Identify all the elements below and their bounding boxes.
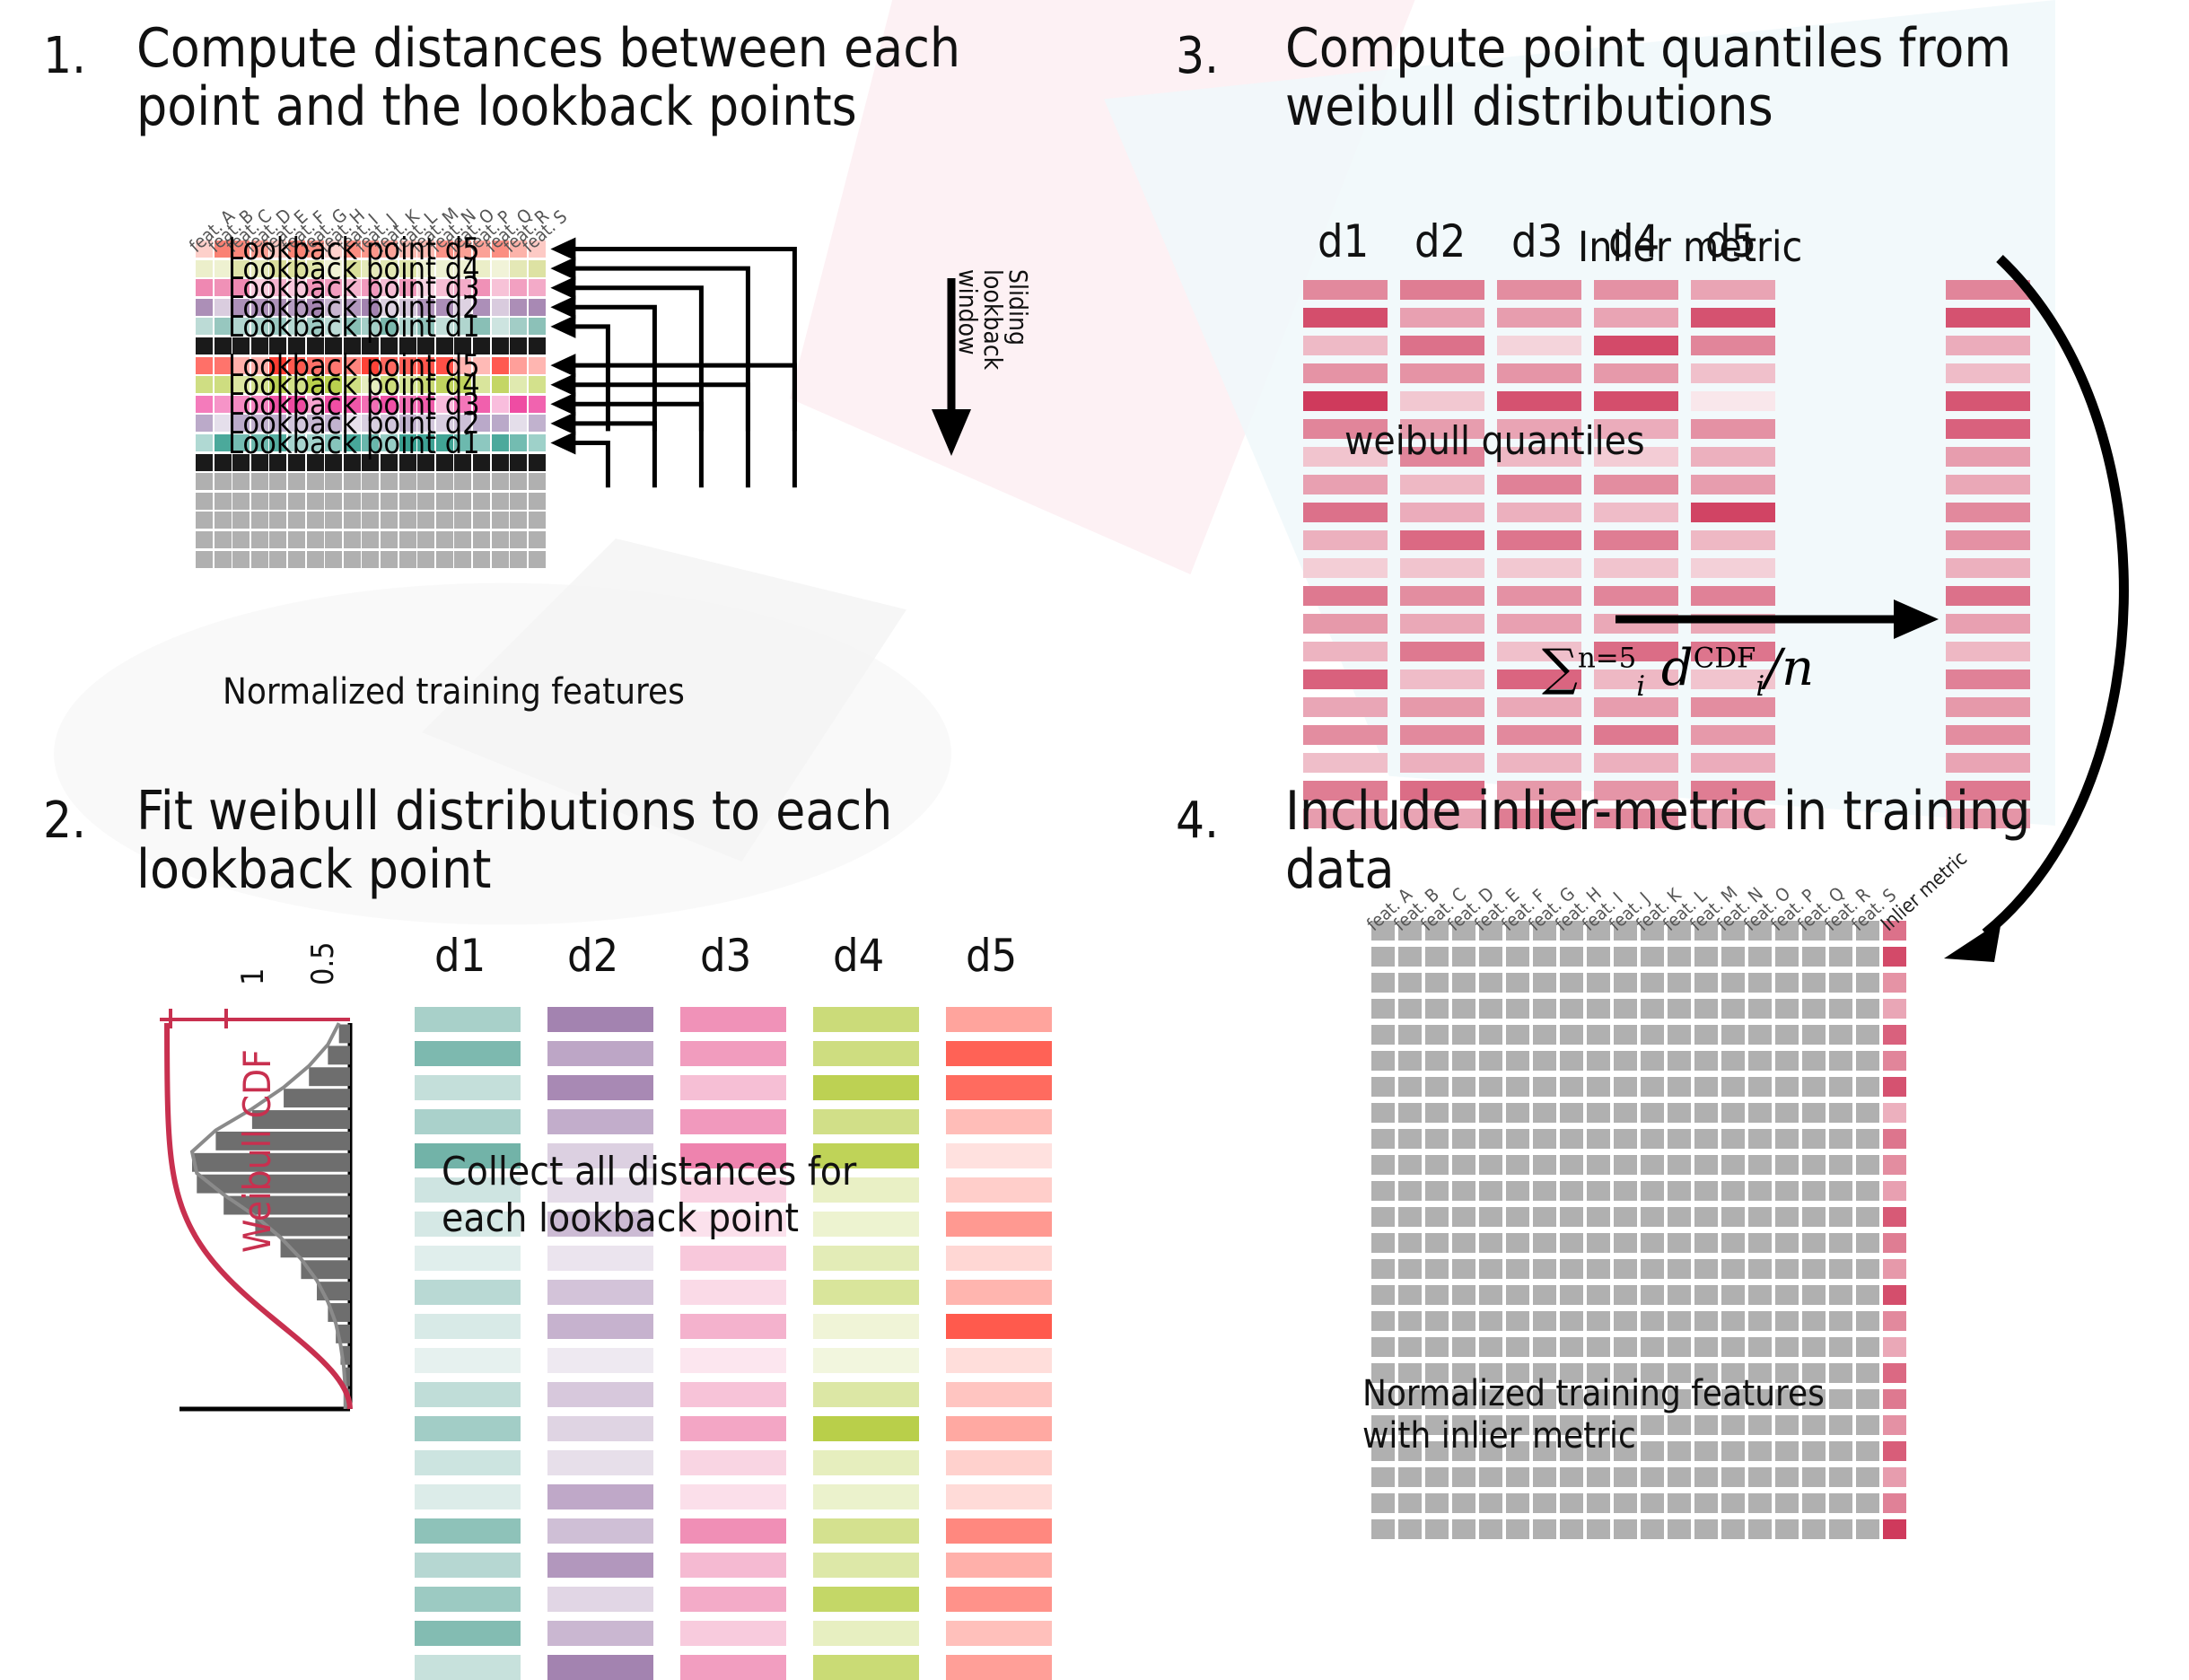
panel3-column-label: d1 [1318, 215, 1369, 267]
panel4-feature-cell [1802, 1519, 1826, 1539]
panel2-distance-cell [547, 1655, 653, 1680]
diagram-canvas: 1. Compute distances between each point … [0, 0, 2189, 1522]
panel2-distance-cell [813, 1655, 919, 1680]
panel2-distance-cell [680, 1621, 786, 1646]
panel4-feature-cell [1668, 1519, 1691, 1539]
panel2-distance-cell [415, 1553, 521, 1578]
collect-distances-label: Collect all distances for each lookback … [442, 1149, 856, 1242]
panel2-distance-cell [946, 1621, 1052, 1646]
panel2-column-label: d1 [434, 930, 486, 982]
panel2-distance-cell [680, 1587, 786, 1612]
panel4-feature-cell [1614, 1519, 1637, 1539]
panel2-distance-cell [547, 1621, 653, 1646]
formula-term-sub: i [1756, 670, 1764, 703]
panel4-feature-cell [1560, 1519, 1583, 1539]
panel2-distance-cell [813, 1621, 919, 1646]
panel2-distance-cell [813, 1587, 919, 1612]
panel4-feature-cell [1398, 1519, 1422, 1539]
panel3-column-label: d3 [1511, 215, 1563, 267]
panel2-distance-cell [415, 1621, 521, 1646]
panel2-distance-cell [415, 1518, 521, 1544]
panel4-feature-cell [1371, 1519, 1395, 1539]
panel4-feature-cell [1775, 1519, 1799, 1539]
formula-divisor: /n [1764, 639, 1814, 697]
weibull-quantiles-label: weibull quantiles [1344, 418, 1645, 465]
panel2-distance-cell [680, 1518, 786, 1544]
formula-term: d [1661, 639, 1694, 697]
panel4-feature-cell [1641, 1519, 1664, 1539]
cdf-tick-0.5: 0.5 [305, 941, 341, 985]
formula-lower: i [1636, 670, 1645, 703]
panel4-feature-cell [1721, 1519, 1745, 1539]
panel1-lookback-row-label: Lookback point d1 [228, 309, 480, 345]
panel4-feature-cell [1506, 1519, 1529, 1539]
panel4-feature-cell [1694, 1519, 1718, 1539]
panel2-distance-cell [813, 1553, 919, 1578]
panel-4-caption: Normalized training features with inlier… [1362, 1373, 1825, 1457]
formula-upper: n=5 [1578, 642, 1636, 674]
sliding-window-label: Sliding lookback window [955, 269, 1030, 370]
panel2-distance-cell [547, 1518, 653, 1544]
panel2-distance-cell [547, 1587, 653, 1612]
panel2-column-label: d5 [966, 930, 1017, 982]
panel4-feature-cell [1748, 1519, 1772, 1539]
panel4-feature-cell [1479, 1519, 1502, 1539]
panel2-distance-cell [946, 1587, 1052, 1612]
panel2-distance-cell [946, 1655, 1052, 1680]
panel2-distance-cell [946, 1518, 1052, 1544]
panel4-feature-cell [1452, 1519, 1475, 1539]
panel4-inlier-cell [1883, 1519, 1906, 1539]
panel2-distance-cell [813, 1518, 919, 1544]
formula-term-sup: CDF [1694, 642, 1756, 674]
panel2-column-label: d2 [567, 930, 618, 982]
panel2-column-label: d4 [833, 930, 884, 982]
panel-1-caption: Normalized training features [223, 671, 685, 713]
panel2-distance-cell [415, 1587, 521, 1612]
inlier-to-training-curve [0, 0, 2189, 1522]
panel2-distance-cell [946, 1553, 1052, 1578]
cdf-tick-1: 1 [235, 968, 271, 985]
panel4-feature-cell [1425, 1519, 1449, 1539]
weibull-cdf-axis-label: Weibull CDF [235, 1049, 279, 1253]
panel4-feature-cell [1587, 1519, 1610, 1539]
panel2-distance-cell [547, 1553, 653, 1578]
panel4-feature-cell [1829, 1519, 1852, 1539]
panel2-distance-cell [680, 1655, 786, 1680]
panel1-lookback-row-label: Lookback point d1 [228, 425, 480, 461]
formula-sigma: ∑ [1542, 639, 1578, 697]
panel2-column-label: d3 [700, 930, 751, 982]
panel2-distance-cell [680, 1553, 786, 1578]
inlier-metric-header: Inlier metric [1578, 223, 1802, 271]
inlier-metric-formula: ∑n=5i dCDFi/n [1542, 639, 1814, 703]
panel2-distance-cell [415, 1655, 521, 1680]
panel4-feature-cell [1533, 1519, 1556, 1539]
panel3-column-label: d2 [1414, 215, 1466, 267]
panel4-feature-cell [1856, 1519, 1879, 1539]
